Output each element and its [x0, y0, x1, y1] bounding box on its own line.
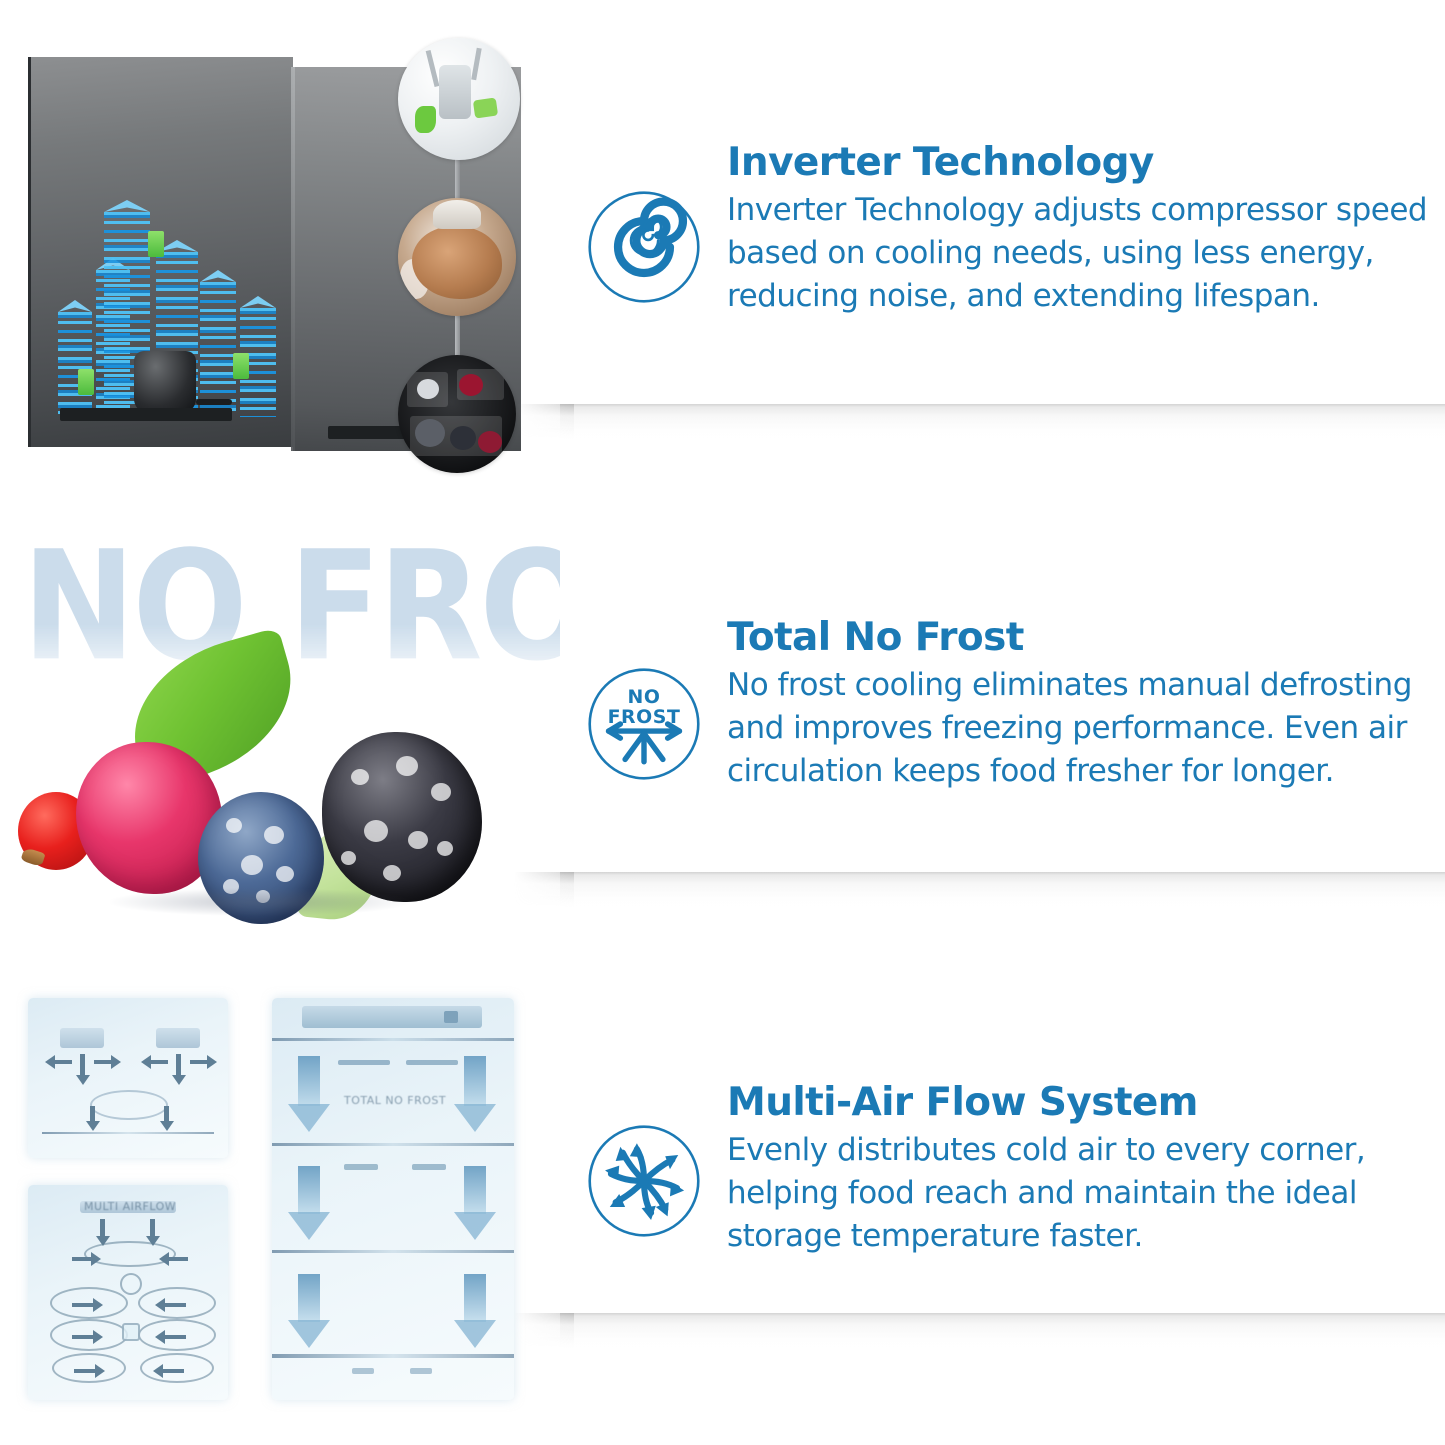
berry-blackberry [322, 732, 482, 902]
inset-frozen-meat [398, 198, 516, 316]
airflow-arrow-down [90, 1106, 95, 1122]
no-frost-icon: NO FROST [585, 665, 703, 783]
fridge-cutaway-illustration [0, 0, 560, 510]
airflow-arrow-down-large [464, 1056, 486, 1106]
svg-text:NO: NO [628, 686, 661, 708]
airflow-panel-label: MULTI AIRFLOW [84, 1200, 176, 1213]
total-no-frost-image: NO FROST [0, 510, 560, 980]
energy-highlight-chip [233, 353, 249, 379]
feature-row-total-no-frost: NO FROST [0, 510, 1445, 980]
airflow-arrow-right [94, 1060, 112, 1064]
airflow-arrow-right [74, 1369, 96, 1373]
airflow-arrow-right [72, 1335, 94, 1339]
inverter-spiral-icon [585, 188, 703, 306]
fridge-foot [60, 408, 232, 421]
inset-compressor-valve [398, 38, 520, 160]
page-title: Inverter Technology [727, 140, 1431, 186]
inverter-technology-text: Inverter Technology Inverter Technology … [560, 0, 1445, 510]
airflow-arrow-left [164, 1335, 186, 1339]
airflow-arrow-right [72, 1257, 92, 1261]
page-title: Multi-Air Flow System [727, 1080, 1431, 1126]
airflow-arrow-down-large [298, 1274, 320, 1322]
energy-tower [200, 279, 236, 417]
energy-highlight-chip [78, 369, 94, 395]
page-title: Total No Frost [727, 615, 1431, 661]
airflow-arrow-down-large [298, 1056, 320, 1106]
compressor-pipe [196, 399, 232, 405]
airflow-arrow-down [176, 1054, 181, 1076]
energy-highlight-chip [148, 231, 164, 257]
airflow-arrow-left [164, 1303, 186, 1307]
feature-row-inverter-technology: Inverter Technology Inverter Technology … [0, 0, 1445, 510]
airflow-diagrams-illustration: MULTI AIRFLOW [0, 980, 560, 1445]
inset-connector [455, 314, 460, 358]
airflow-arrow-down-large [464, 1166, 486, 1214]
total-no-frost-text: NO FROST [560, 510, 1445, 980]
airflow-arrow-right [190, 1060, 208, 1064]
fan-hub [120, 1273, 142, 1295]
airflow-panel-top-shelf [28, 998, 228, 1158]
airflow-panel-fan-circulation: MULTI AIRFLOW [28, 1185, 228, 1400]
feature-description: No frost cooling eliminates manual defro… [727, 664, 1431, 793]
feature-row-multi-air-flow-system: MULTI AIRFLOW [0, 980, 1445, 1445]
airflow-panel-full-cabinet: TOTAL NO FROST [272, 998, 514, 1400]
energy-tower [58, 309, 92, 417]
airflow-arrow-down [80, 1054, 85, 1076]
airflow-arrow-down-large [298, 1166, 320, 1214]
no-frost-background-word: NO FROST [22, 538, 560, 677]
feature-highlights-page: Inverter Technology Inverter Technology … [0, 0, 1445, 1445]
feature-description: Evenly distributes cold air to every cor… [727, 1129, 1431, 1258]
multi-air-flow-image: MULTI AIRFLOW [0, 980, 560, 1445]
airflow-arrow-down-large [464, 1274, 486, 1322]
airflow-panel-label: TOTAL NO FROST [344, 1094, 446, 1107]
multi-air-flow-icon [585, 1122, 703, 1240]
fridge-seam [291, 67, 295, 451]
airflow-arrow-down [150, 1219, 155, 1237]
airflow-arrow-left [168, 1257, 188, 1261]
feature-description: Inverter Technology adjusts compressor s… [727, 189, 1431, 318]
inset-connector [455, 158, 460, 200]
compressor [134, 351, 196, 413]
airflow-arrow-left [54, 1060, 72, 1064]
multi-air-flow-text: Multi-Air Flow System Evenly distributes… [560, 980, 1445, 1445]
inverter-technology-image [0, 0, 560, 510]
airflow-arrow-left [150, 1060, 168, 1064]
berry-shadow [110, 888, 410, 916]
no-frost-berries-illustration: NO FROST [0, 510, 560, 980]
airflow-arrow-down [164, 1106, 169, 1122]
inset-fridge-interior [398, 355, 516, 473]
airflow-arrow-left [162, 1369, 184, 1373]
fan-hub-lower [122, 1323, 140, 1341]
airflow-arrow-right [72, 1303, 94, 1307]
airflow-arrow-down [100, 1219, 105, 1237]
